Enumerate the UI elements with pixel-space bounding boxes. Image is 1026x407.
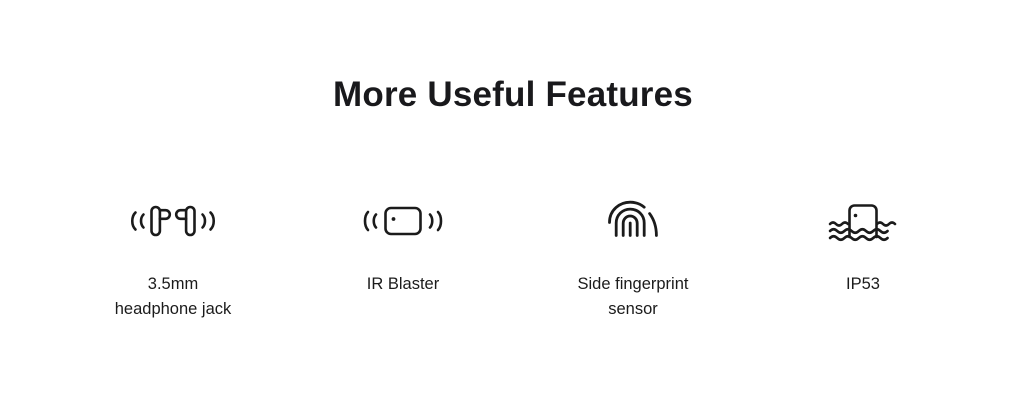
feature-item-headphone-jack: 3.5mm headphone jack xyxy=(58,192,288,322)
page-title: More Useful Features xyxy=(0,72,1026,118)
feature-label: Side fingerprint sensor xyxy=(578,272,689,322)
feature-label: IP53 xyxy=(846,272,880,297)
feature-item-ip-rating: IP53 xyxy=(748,192,978,297)
feature-label: 3.5mm headphone jack xyxy=(115,272,232,322)
fingerprint-icon xyxy=(605,192,661,250)
water-resistance-icon xyxy=(825,192,901,250)
feature-label: IR Blaster xyxy=(367,272,439,297)
feature-highlight-page: More Useful Features xyxy=(0,0,1026,407)
feature-item-ir-blaster: IR Blaster xyxy=(288,192,518,297)
features-row: 3.5mm headphone jack IR Blaster xyxy=(58,192,978,322)
feature-item-fingerprint: Side fingerprint sensor xyxy=(518,192,748,322)
earbuds-wireless-icon xyxy=(123,192,223,250)
ir-blaster-icon xyxy=(355,192,451,250)
